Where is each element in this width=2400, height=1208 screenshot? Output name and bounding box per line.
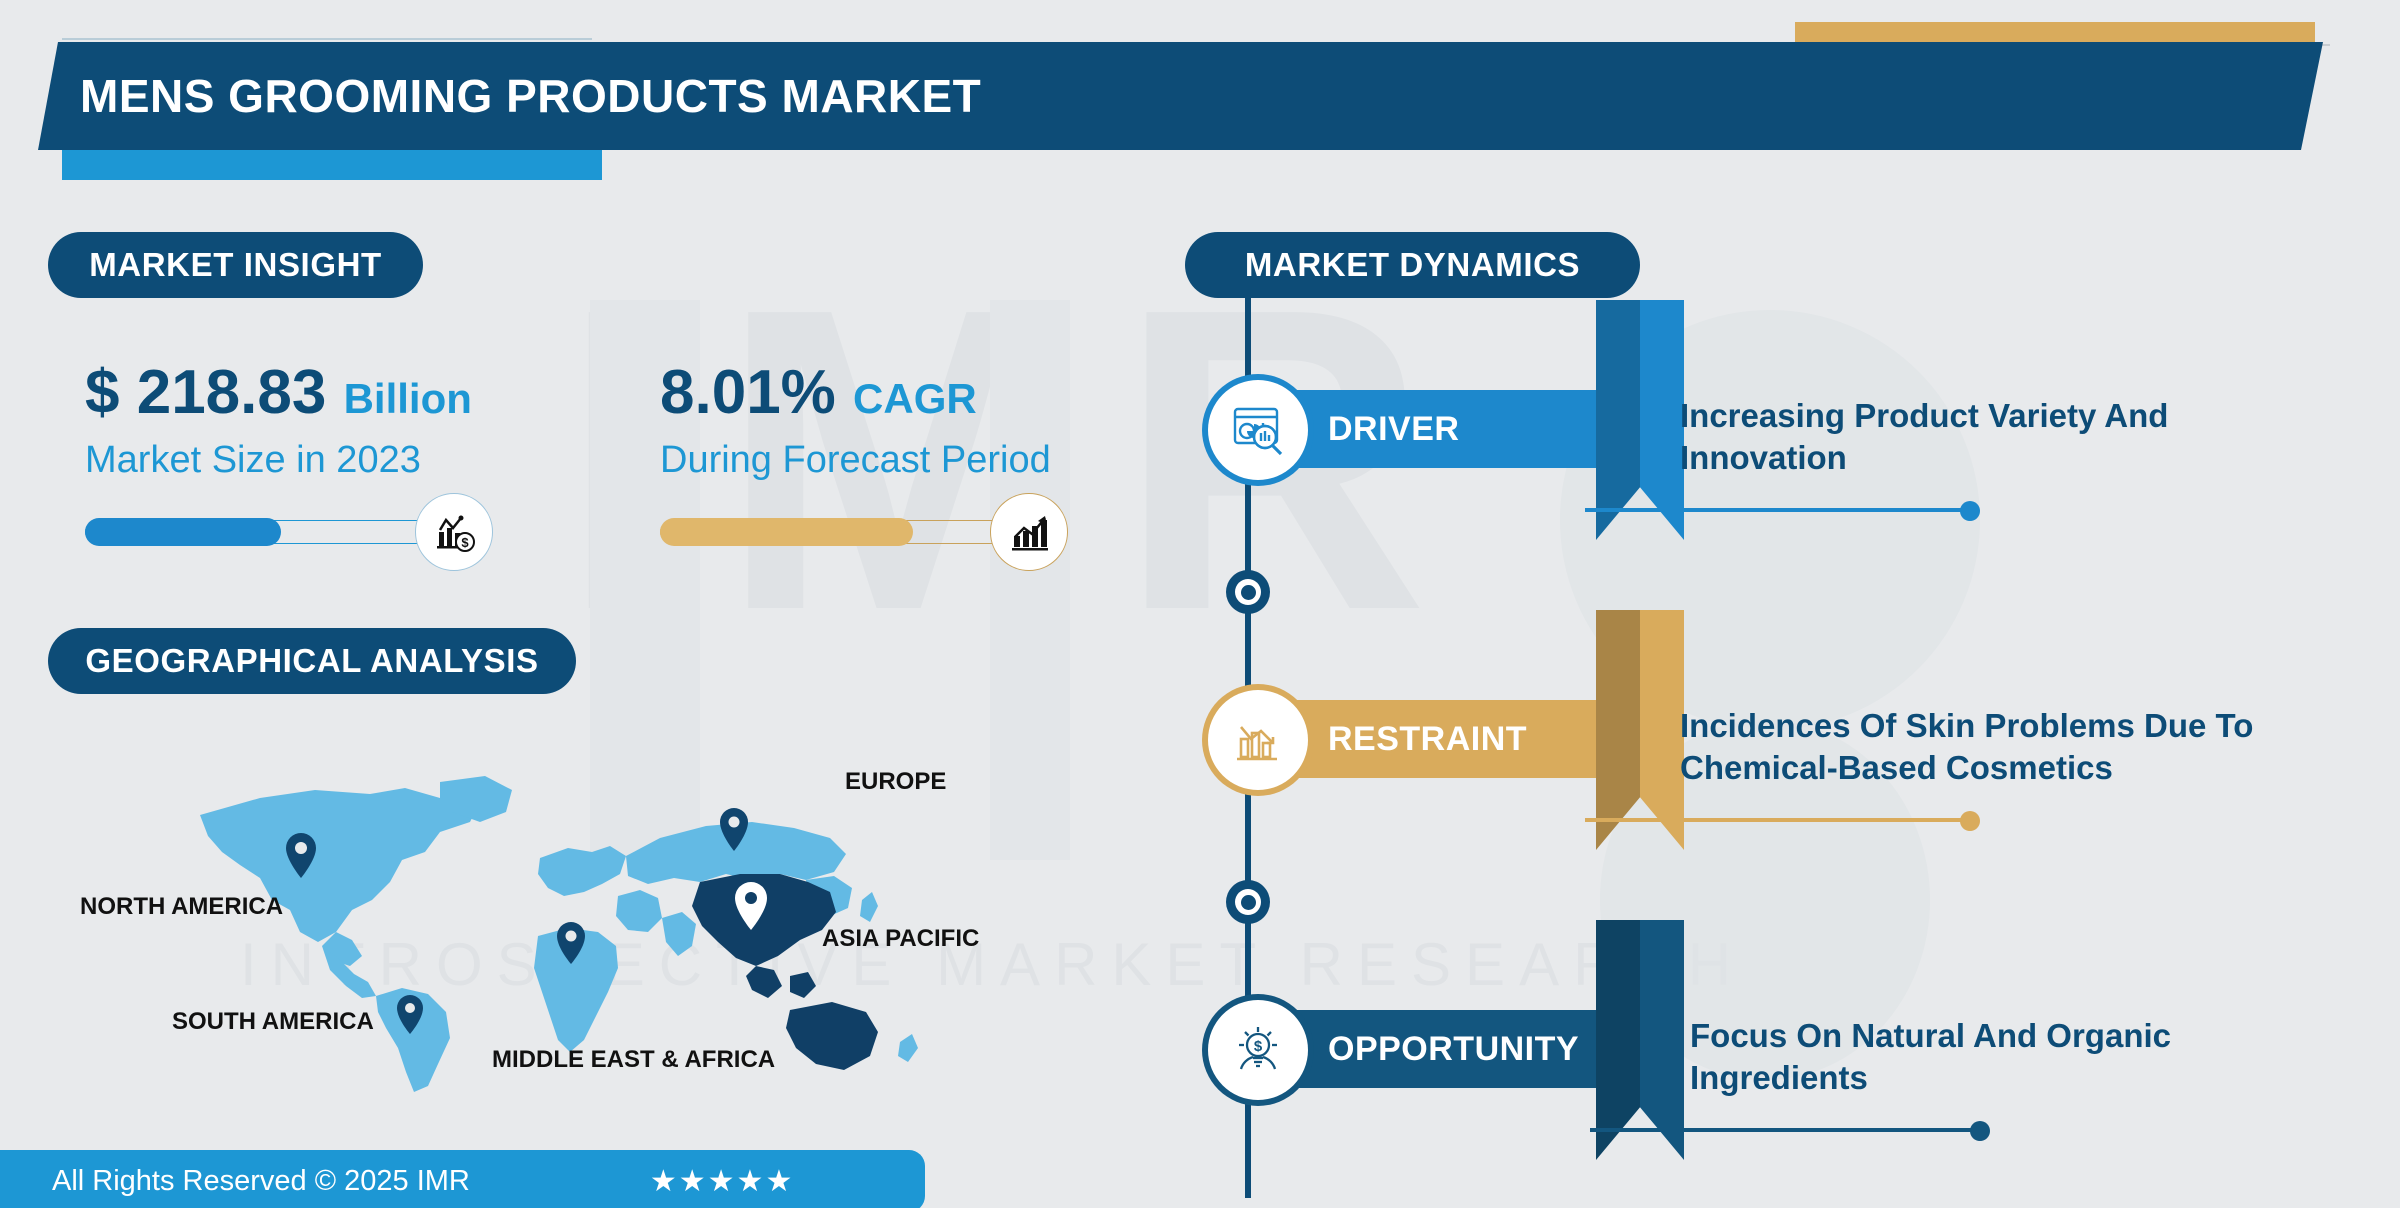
- stat-label: During Forecast Period: [660, 439, 1051, 482]
- title-banner-accent: [62, 150, 602, 180]
- ribbon-flag-shade: [1596, 300, 1640, 540]
- ribbon-flag-shade: [1596, 610, 1640, 850]
- dynamics-item-driver[interactable]: DRIVER: [1208, 340, 1638, 520]
- highlighted-region: [692, 874, 878, 1070]
- header-gold-accent: [1795, 22, 2315, 44]
- dynamics-label: RESTRAINT: [1328, 700, 1527, 778]
- ribbon-shape: RESTRAINT: [1208, 650, 1638, 830]
- stat-value: $ 218.83 Billion: [85, 360, 475, 425]
- dynamics-label: OPPORTUNITY: [1328, 1010, 1579, 1088]
- stat-number: $ 218.83: [85, 358, 326, 427]
- declining-bar-chart-icon: [1208, 690, 1308, 790]
- progress-bar: [660, 518, 1050, 546]
- map-label-north-america: NORTH AMERICA: [80, 893, 283, 921]
- growth-chart-arrow-icon: [990, 493, 1068, 571]
- page-title: MENS GROOMING PRODUCTS MARKET: [80, 69, 981, 123]
- timeline-node: [1226, 880, 1270, 924]
- dynamics-underline: [1585, 818, 1970, 822]
- stat-value: 8.01% CAGR: [660, 360, 1051, 425]
- dynamics-underline: [1585, 508, 1970, 512]
- dynamics-item-opportunity[interactable]: $ OPPORTUNITY: [1208, 960, 1638, 1140]
- ribbon-flag-shade: [1596, 920, 1640, 1160]
- copyright-text: All Rights Reserved © 2025 IMR: [52, 1165, 470, 1198]
- map-label-europe: EUROPE: [845, 768, 946, 796]
- timeline-node: [1226, 570, 1270, 614]
- bar-chart-dollar-icon: $: [415, 493, 493, 571]
- svg-text:$: $: [1254, 1038, 1263, 1055]
- stat-unit: Billion: [344, 375, 472, 422]
- map-label-asia-pacific: ASIA PACIFIC: [822, 925, 979, 953]
- lightbulb-dollar-icon: $: [1208, 1000, 1308, 1100]
- stat-market-size: $ 218.83 Billion Market Size in 2023 $: [85, 360, 475, 546]
- market-dynamics-heading: MARKET DYNAMICS: [1185, 232, 1640, 298]
- underline-dot: [1960, 501, 1980, 521]
- stat-cagr: 8.01% CAGR During Forecast Period: [660, 360, 1051, 546]
- title-banner: MENS GROOMING PRODUCTS MARKET: [38, 42, 2323, 150]
- rating-stars: ★★★★★: [650, 1164, 794, 1199]
- progress-fill: [660, 518, 913, 546]
- geographical-analysis-heading: GEOGRAPHICAL ANALYSIS: [48, 628, 576, 694]
- footer-bar: All Rights Reserved © 2025 IMR ★★★★★: [0, 1150, 925, 1208]
- stat-unit: CAGR: [853, 375, 977, 422]
- dynamics-text-restraint: Incidences Of Skin Problems Due To Chemi…: [1680, 705, 2300, 789]
- progress-fill: [85, 518, 281, 546]
- ribbon-shape: DRIVER: [1208, 340, 1638, 520]
- map-label-middle-east-africa: MIDDLE EAST & AFRICA: [492, 1046, 775, 1074]
- dynamics-item-restraint[interactable]: RESTRAINT: [1208, 650, 1638, 830]
- underline-dot: [1970, 1121, 1990, 1141]
- dynamics-text-opportunity: Focus On Natural And Organic Ingredients: [1690, 1015, 2310, 1099]
- stat-label: Market Size in 2023: [85, 439, 475, 482]
- stat-number: 8.01%: [660, 358, 836, 427]
- dynamics-text-driver: Increasing Product Variety And Innovatio…: [1680, 395, 2300, 479]
- header-rule-left: [62, 38, 592, 40]
- underline-dot: [1960, 811, 1980, 831]
- dynamics-underline: [1590, 1128, 1980, 1132]
- ribbon-shape: $ OPPORTUNITY: [1208, 960, 1638, 1140]
- progress-bar: $: [85, 518, 475, 546]
- svg-text:$: $: [461, 535, 469, 550]
- infographic-canvas: IMR INTROSPECTIVE MARKET RESEARCH MENS G…: [0, 0, 2400, 1208]
- dynamics-label: DRIVER: [1328, 390, 1459, 468]
- market-insight-heading: MARKET INSIGHT: [48, 232, 423, 298]
- map-label-south-america: SOUTH AMERICA: [172, 1008, 374, 1036]
- analytics-dashboard-icon: [1208, 380, 1308, 480]
